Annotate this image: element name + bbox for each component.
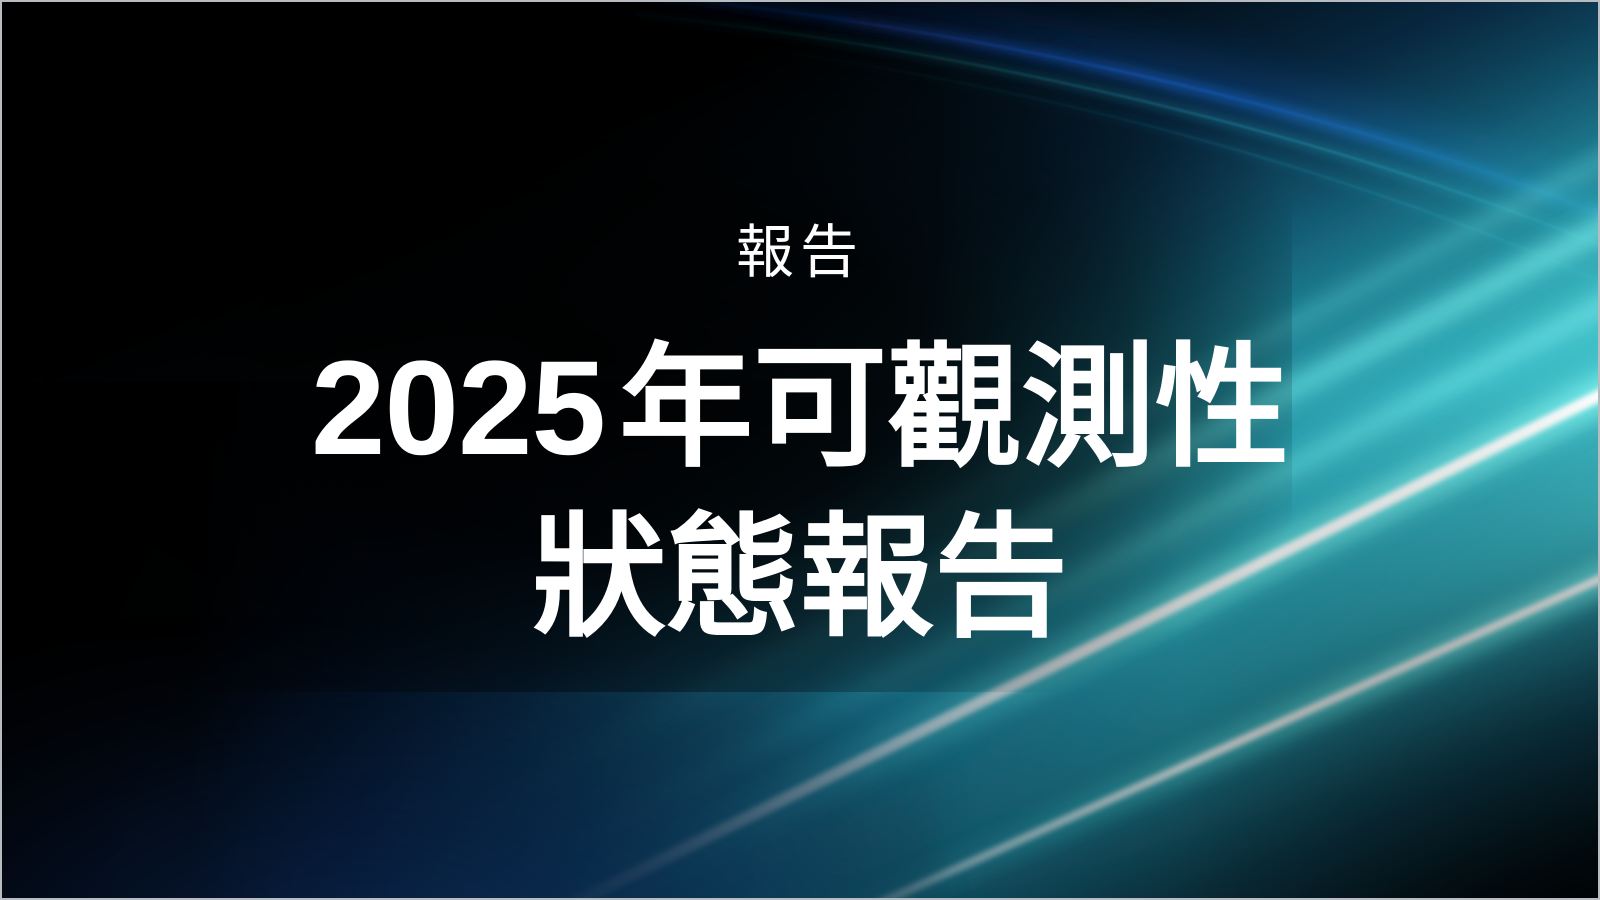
page-title-line-2: 狀態報告	[311, 494, 1289, 664]
slide-eyebrow: 報告	[736, 224, 864, 282]
title-slide: 報告 2025年可觀測性 狀態報告	[0, 0, 1600, 900]
page-title-line-1: 2025年可觀測性	[311, 324, 1289, 494]
page-title-year: 2025	[311, 334, 605, 483]
page-title: 2025年可觀測性 狀態報告	[311, 324, 1289, 664]
page-title-line-1-text: 年可觀測性	[619, 334, 1289, 483]
slide-content: 報告 2025年可觀測性 狀態報告	[2, 2, 1598, 898]
